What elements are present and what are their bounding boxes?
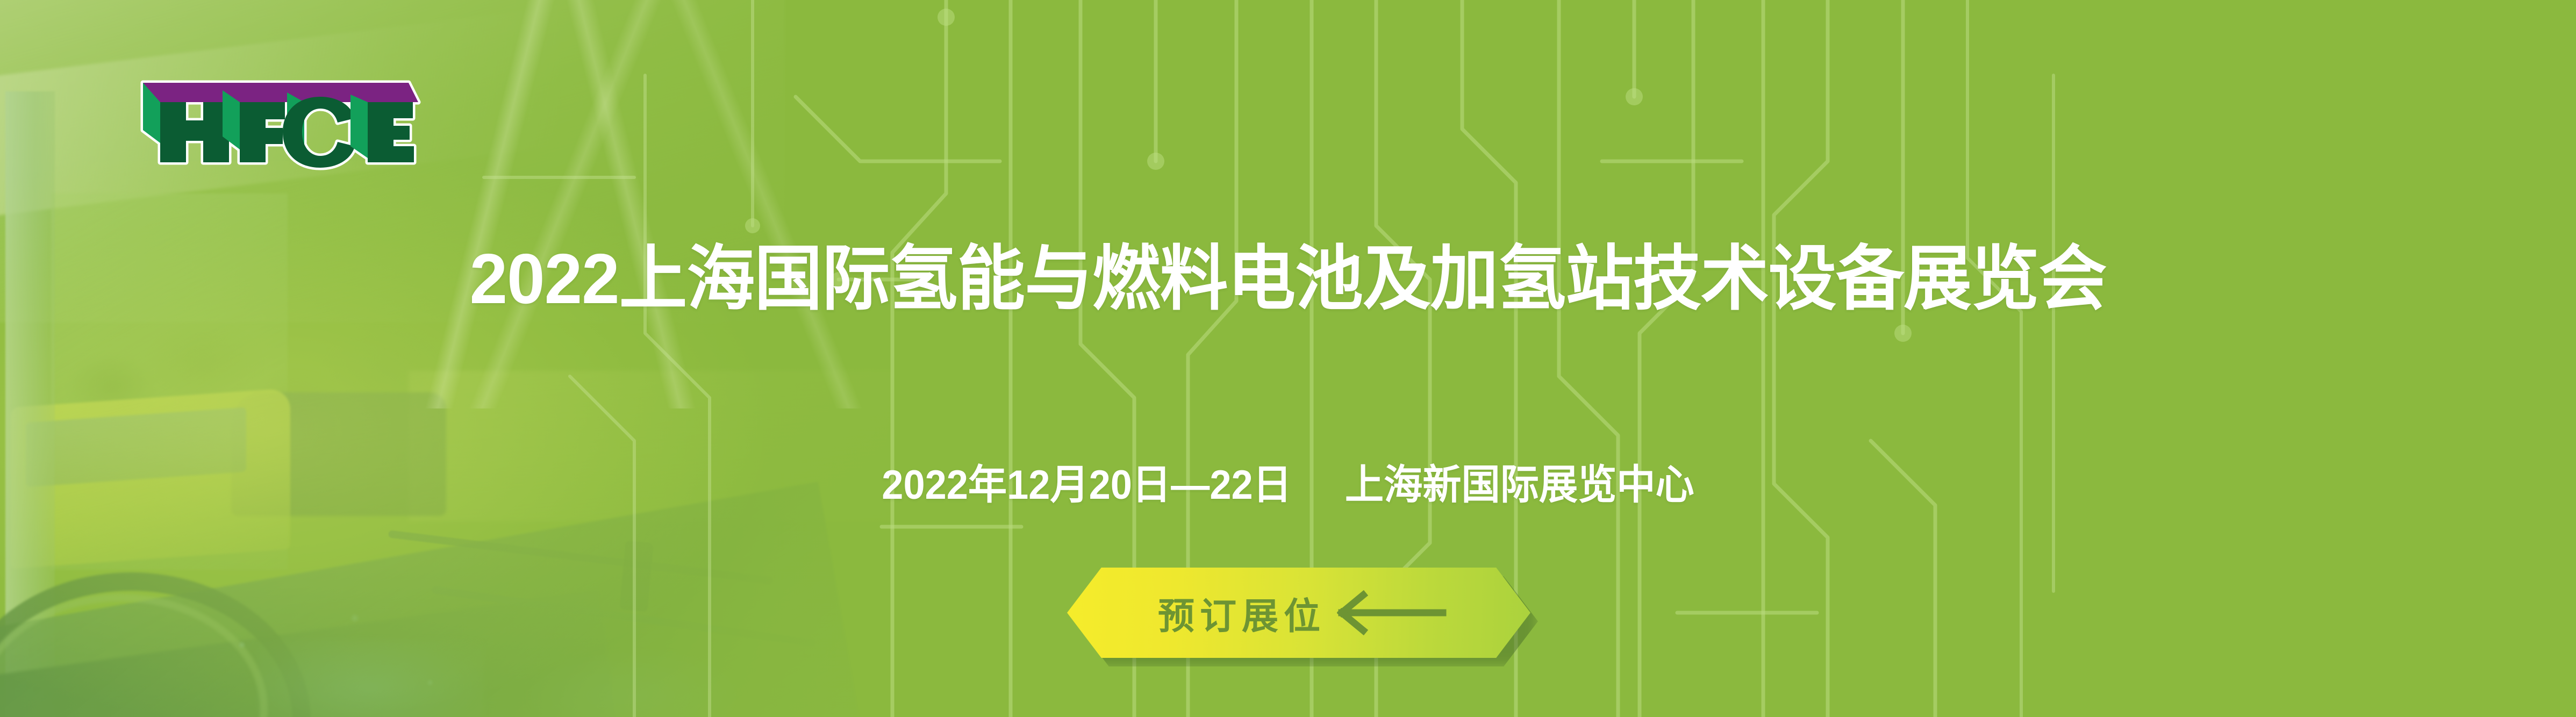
event-date: 2022年12月20日—22日 (882, 462, 1292, 508)
logo-h-face (160, 102, 229, 162)
arrow-left-long-icon (1337, 592, 1445, 634)
logo-f-face (240, 102, 285, 162)
book-booth-button-wrapper[interactable]: 预订展位 (1067, 568, 1530, 658)
page-title: 2022上海国际氢能与燃料电池及加氢站技术设备展览会 (52, 243, 2524, 316)
date-venue-line: 2022年12月20日—22日 上海新国际展览中心 (65, 451, 2511, 511)
logo-roof (143, 83, 418, 102)
event-venue: 上海新国际展览中心 (1345, 462, 1694, 508)
exhibition-banner: 2022上海国际氢能与燃料电池及加氢站技术设备展览会 2022年12月20日—2… (0, 0, 2576, 717)
logo-c-face (283, 97, 355, 168)
hfce-logo[interactable] (141, 81, 420, 166)
book-booth-label: 预订展位 (1153, 586, 1326, 640)
logo-e-face (368, 102, 414, 162)
book-booth-button[interactable]: 预订展位 (1067, 568, 1530, 658)
